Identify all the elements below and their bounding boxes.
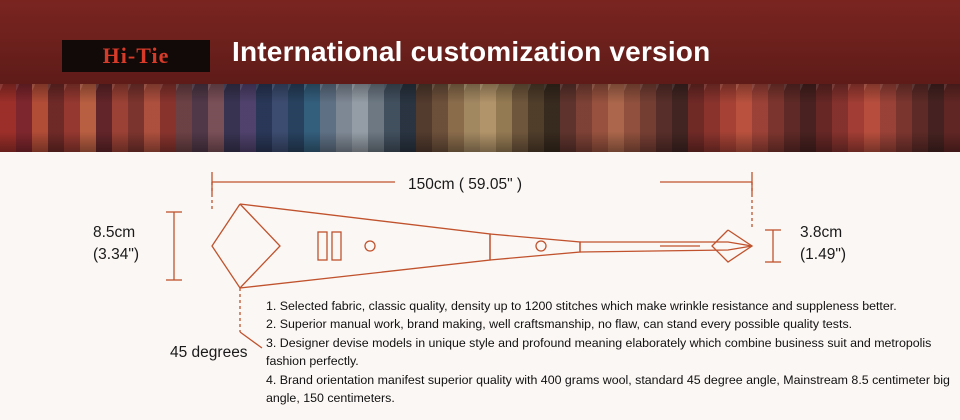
necktie-thumb [352, 84, 368, 152]
necktie-thumb [576, 84, 592, 152]
necktie-thumb [720, 84, 736, 152]
necktie-thumb [400, 84, 416, 152]
right-dimension-label-cm: 3.8cm [800, 224, 842, 242]
necktie-thumb [672, 84, 688, 152]
necktie-thumb [240, 84, 256, 152]
necktie-thumb [32, 84, 48, 152]
blade-middle-body [490, 234, 580, 260]
right-dimension-label-inch: (1.49") [800, 246, 846, 264]
necktie-thumb [304, 84, 320, 152]
necktie-thumb [176, 84, 192, 152]
necktie-thumb [800, 84, 816, 152]
angle-label: 45 degrees [170, 344, 248, 362]
product-spec-page: Hi-Tie International customization versi… [0, 0, 960, 420]
keeper-bar-2 [332, 232, 341, 260]
necktie-thumb [128, 84, 144, 152]
necktie-thumb [832, 84, 848, 152]
necktie-thumb [560, 84, 576, 152]
necktie-thumb [608, 84, 624, 152]
necktie-thumb [192, 84, 208, 152]
banner-title: International customization version [232, 36, 710, 68]
necktie-thumb [160, 84, 176, 152]
necktie-thumb [0, 84, 16, 152]
blade-narrow-tip [712, 230, 752, 262]
necktie-thumb [752, 84, 768, 152]
necktie-thumb [544, 84, 560, 152]
necktie-thumb [96, 84, 112, 152]
necktie-thumb [64, 84, 80, 152]
necktie-thumb [512, 84, 528, 152]
necktie-thumb [656, 84, 672, 152]
stitch-dot-left [365, 241, 375, 251]
necktie-thumb [736, 84, 752, 152]
necktie-thumb [496, 84, 512, 152]
necktie-thumb [784, 84, 800, 152]
spec-note: 1. Selected fabric, classic quality, den… [266, 297, 952, 315]
necktie-thumb [48, 84, 64, 152]
necktie-thumb [384, 84, 400, 152]
necktie-thumb [704, 84, 720, 152]
necktie-thumb [864, 84, 880, 152]
necktie-thumb [320, 84, 336, 152]
tie-dimension-diagram: 150cm ( 59.05" ) 8.5cm (3.34") 3.8cm (1.… [0, 152, 960, 420]
necktie-thumb [768, 84, 784, 152]
spec-note: 3. Designer devise models in unique styl… [266, 334, 952, 371]
necktie-thumb [336, 84, 352, 152]
necktie-thumb [416, 84, 432, 152]
stitch-dot-right [536, 241, 546, 251]
brand-logo: Hi-Tie [62, 40, 210, 72]
keeper-bar-1 [318, 232, 327, 260]
necktie-thumb [528, 84, 544, 152]
necktie-thumb [944, 84, 960, 152]
blade-neck [580, 242, 752, 252]
necktie-thumb [896, 84, 912, 152]
necktie-thumb [224, 84, 240, 152]
necktie-thumb [288, 84, 304, 152]
necktie-thumb [256, 84, 272, 152]
necktie-thumb [448, 84, 464, 152]
necktie-thumb [272, 84, 288, 152]
necktie-thumb [464, 84, 480, 152]
necktie-thumb [208, 84, 224, 152]
spec-note: 2. Superior manual work, brand making, w… [266, 315, 952, 333]
spec-notes-list: 1. Selected fabric, classic quality, den… [266, 297, 952, 407]
header-banner: Hi-Tie International customization versi… [0, 0, 960, 84]
necktie-thumb [624, 84, 640, 152]
necktie-thumb [144, 84, 160, 152]
necktie-thumb [848, 84, 864, 152]
necktie-thumb [16, 84, 32, 152]
necktie-thumb [368, 84, 384, 152]
necktie-thumb [480, 84, 496, 152]
spec-note: 4. Brand orientation manifest superior q… [266, 371, 952, 408]
necktie-thumb [80, 84, 96, 152]
brand-logo-text: Hi-Tie [103, 43, 170, 69]
necktie-thumb [592, 84, 608, 152]
necktie-thumb [688, 84, 704, 152]
top-dimension-label: 150cm ( 59.05" ) [408, 176, 522, 194]
necktie-thumb [928, 84, 944, 152]
necktie-thumb [816, 84, 832, 152]
necktie-thumb [112, 84, 128, 152]
necktie-thumb [640, 84, 656, 152]
left-dimension-label-cm: 8.5cm [93, 224, 135, 242]
left-dimension-label-inch: (3.34") [93, 246, 139, 264]
blade-wide-tip [212, 204, 280, 288]
necktie-thumb [432, 84, 448, 152]
necktie-photo-strip [0, 84, 960, 152]
necktie-thumb [880, 84, 896, 152]
necktie-thumb [912, 84, 928, 152]
